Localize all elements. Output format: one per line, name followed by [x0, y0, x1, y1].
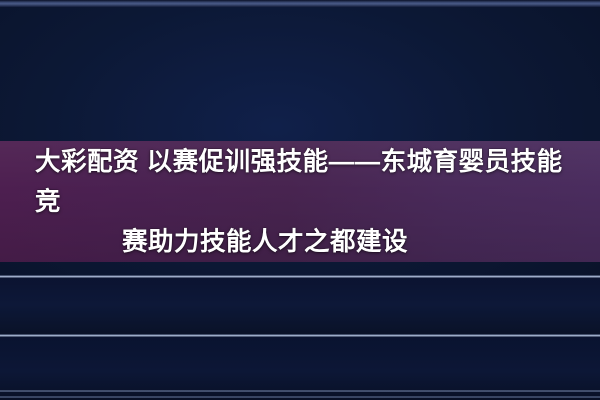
top-rail-divider	[0, 0, 600, 7]
panel-separator-bottom-1	[0, 390, 600, 392]
banner-image: 大彩配资 以赛促训强技能——东城育婴员技能竞 赛助力技能人才之都建设	[0, 0, 600, 400]
panel-separator-upper	[0, 275, 600, 278]
headline-line-1: 大彩配资 以赛促训强技能——东城育婴员技能竞	[27, 142, 573, 222]
headline-band: 大彩配资 以赛促训强技能——东城育婴员技能竞 赛助力技能人才之都建设	[0, 141, 600, 262]
panel-separator-bottom-2	[0, 396, 600, 398]
headline-text: 大彩配资 以赛促训强技能——东城育婴员技能竞 赛助力技能人才之都建设	[27, 142, 573, 262]
histogram-panel-background	[0, 276, 600, 334]
panel-separator-lower	[0, 334, 600, 337]
headline-line-2: 赛助力技能人才之都建设	[27, 222, 573, 262]
